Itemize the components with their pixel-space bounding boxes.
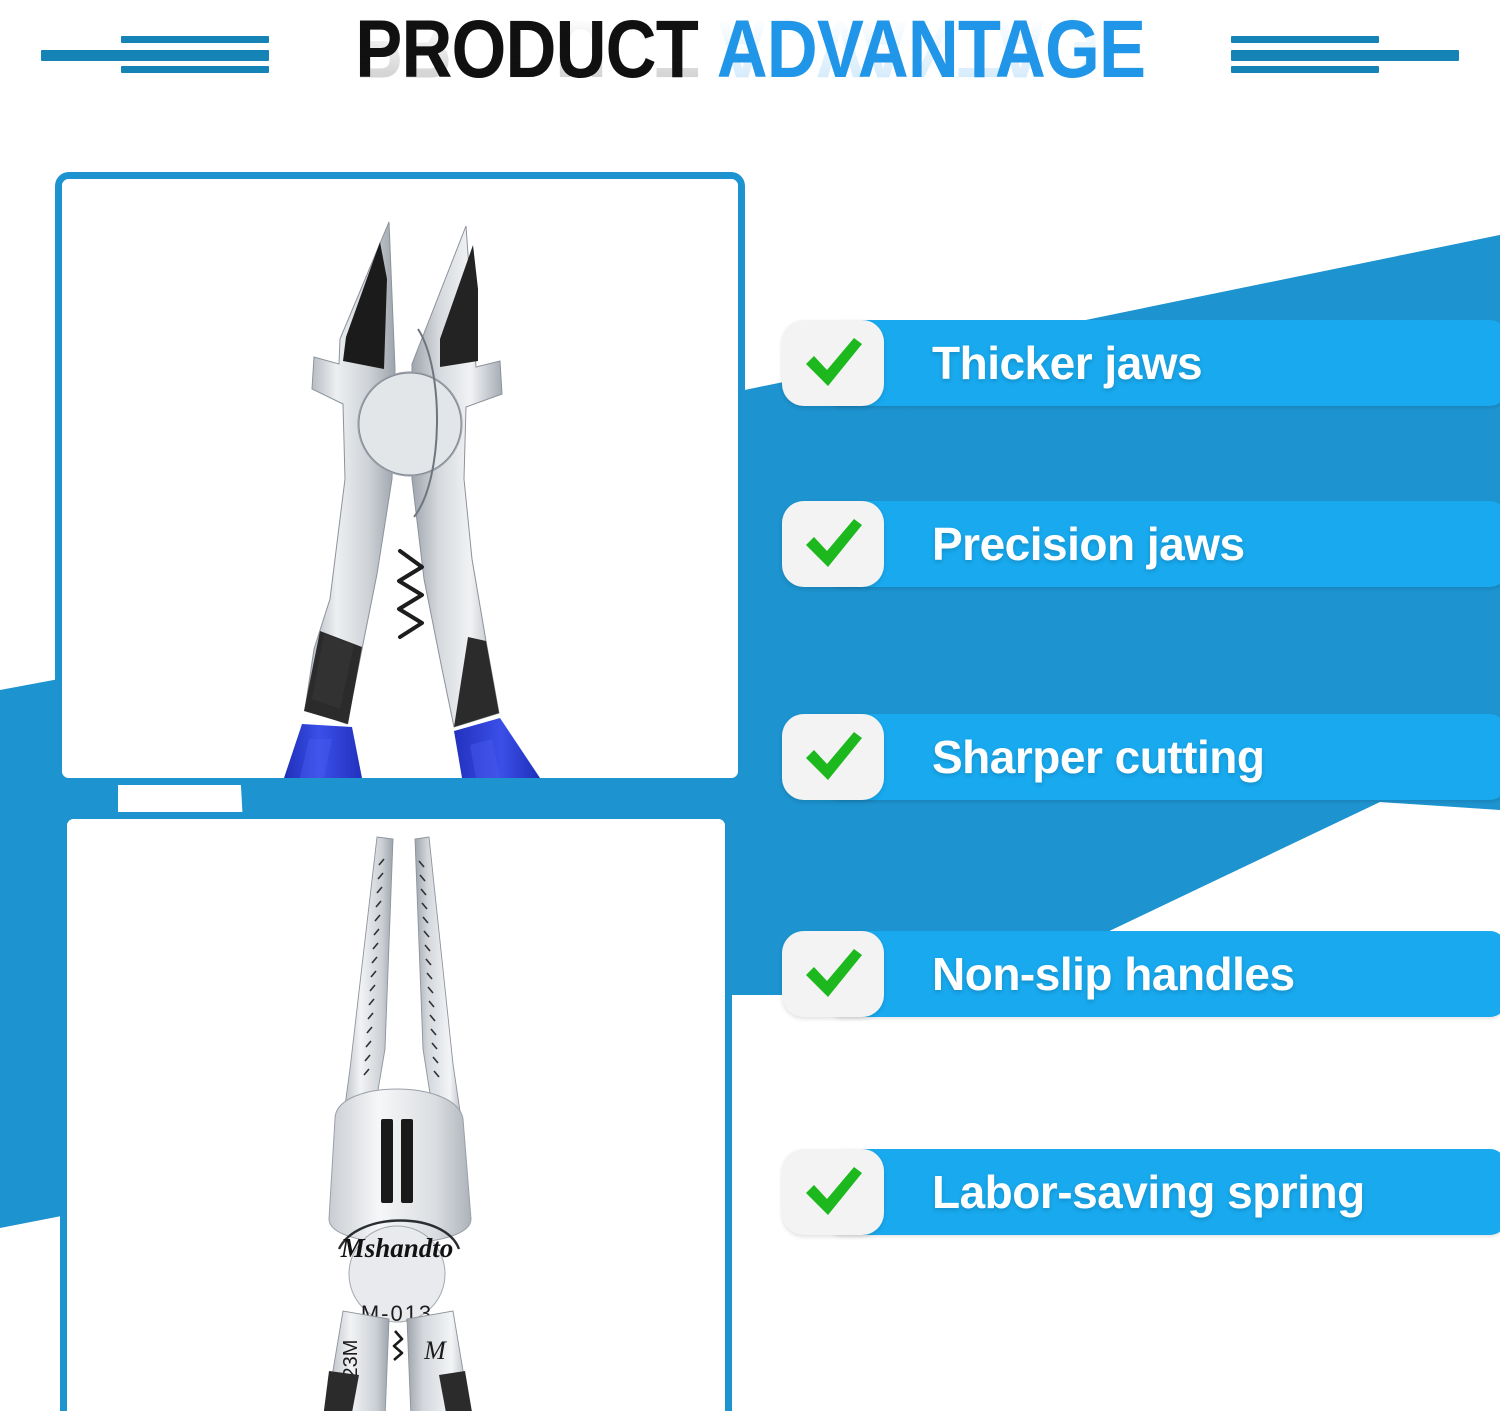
check-icon xyxy=(782,931,884,1017)
feature-list: Thicker jaws Precision jaws Sharper cutt… xyxy=(0,0,1500,1411)
feature-item-sharper-cutting[interactable]: Sharper cutting xyxy=(782,714,1264,800)
feature-item-non-slip-handles[interactable]: Non-slip handles xyxy=(782,931,1295,1017)
feature-label: Sharper cutting xyxy=(932,730,1264,784)
check-icon xyxy=(782,714,884,800)
check-icon xyxy=(782,1149,884,1235)
feature-label: Labor-saving spring xyxy=(932,1165,1365,1219)
feature-label: Non-slip handles xyxy=(932,947,1295,1001)
feature-item-precision-jaws[interactable]: Precision jaws xyxy=(782,501,1245,587)
feature-item-thicker-jaws[interactable]: Thicker jaws xyxy=(782,320,1202,406)
check-icon xyxy=(782,320,884,406)
feature-label: Precision jaws xyxy=(932,517,1245,571)
feature-item-labor-saving-spring[interactable]: Labor-saving spring xyxy=(782,1149,1365,1235)
check-icon xyxy=(782,501,884,587)
feature-label: Thicker jaws xyxy=(932,336,1202,390)
